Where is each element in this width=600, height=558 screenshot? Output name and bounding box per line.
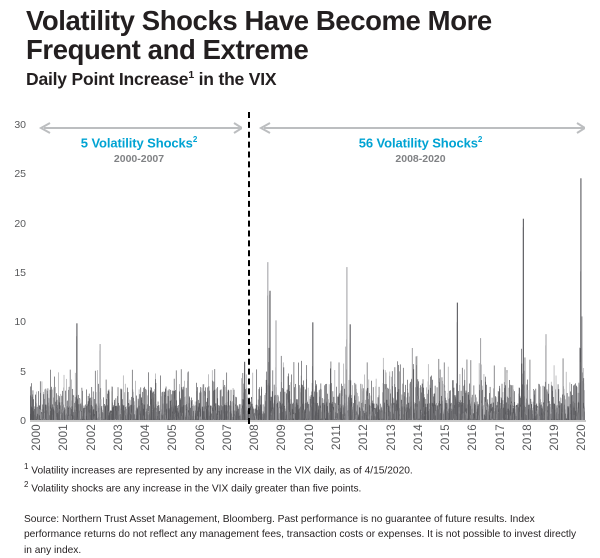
bar: [323, 403, 324, 421]
bar: [200, 387, 201, 421]
bar: [460, 400, 461, 421]
bar: [428, 390, 429, 421]
chart-container: 051015202530 200020012002200320042005200…: [0, 112, 600, 457]
bar: [87, 406, 88, 421]
bar: [496, 397, 497, 421]
y-axis-tick-10: 10: [0, 317, 26, 328]
title-line-1: Volatility Shocks Have Become More: [26, 5, 492, 36]
bar: [181, 369, 182, 421]
bar: [492, 407, 493, 421]
bar: [324, 385, 325, 421]
subtitle-text: Daily Point Increase: [26, 69, 188, 89]
subtitle-tail: in the VIX: [194, 69, 276, 89]
y-axis-tick-5: 5: [0, 366, 26, 377]
y-axis: 051015202530: [0, 112, 26, 432]
y-axis-tick-15: 15: [0, 268, 26, 279]
bar: [535, 405, 536, 421]
bar: [453, 380, 454, 421]
plot-area: [30, 125, 585, 421]
bar: [336, 387, 337, 421]
chart-page: Volatility Shocks Have Become More Frequ…: [0, 0, 600, 556]
bar: [135, 381, 136, 421]
bar: [194, 406, 195, 421]
bar: [484, 374, 485, 421]
bar: [170, 400, 171, 421]
y-axis-tick-30: 30: [0, 120, 26, 131]
bar: [514, 402, 515, 421]
bar: [518, 403, 519, 421]
y-axis-tick-20: 20: [0, 218, 26, 229]
page-title: Volatility Shocks Have Become More Frequ…: [26, 6, 586, 64]
page-subtitle: Daily Point Increase1 in the VIX: [26, 70, 586, 89]
bar-series: [30, 125, 585, 421]
bar: [403, 368, 404, 421]
bar: [287, 400, 288, 421]
bar: [566, 372, 567, 421]
title-line-2: Frequent and Extreme: [26, 34, 308, 65]
title-block: Volatility Shocks Have Become More Frequ…: [26, 6, 586, 90]
bar: [334, 370, 335, 421]
y-axis-tick-25: 25: [0, 169, 26, 180]
bar: [368, 379, 369, 421]
bar: [115, 406, 116, 421]
